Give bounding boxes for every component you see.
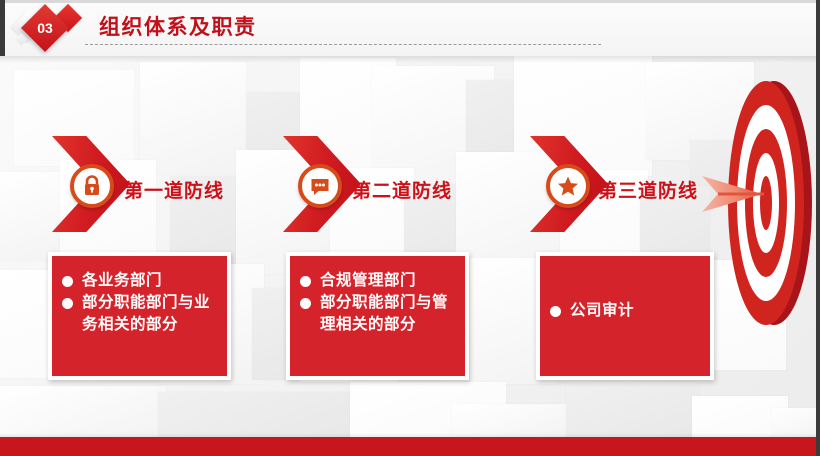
title-divider — [85, 44, 601, 45]
right-edge-accent — [816, 0, 820, 456]
slide-canvas: 第一道防线 各业务部门 部分职能部门与业务相关的部分 第二道防线 合规 — [0, 0, 820, 456]
defense-line-label-1: 第一道防线 — [124, 176, 224, 203]
star-icon — [546, 164, 590, 208]
chat-bubble-icon — [298, 164, 342, 208]
box2-item-2: 部分职能部门与管理相关的部分 — [300, 292, 455, 336]
page-title: 组织体系及职责 — [99, 11, 257, 41]
section-badge: 03 — [8, 2, 94, 54]
box1-item-1: 各业务部门 — [62, 270, 217, 292]
bullet-dot — [300, 298, 311, 309]
bottom-accent-bar — [0, 437, 820, 456]
header-shadow — [0, 56, 820, 63]
slide-header: 03 组织体系及职责 — [0, 0, 820, 56]
defense-line-label-2: 第二道防线 — [352, 176, 452, 203]
box2-item-1: 合规管理部门 — [300, 270, 455, 292]
left-edge-accent — [0, 0, 5, 56]
box3-item-1: 公司审计 — [550, 300, 700, 322]
bullet-dot — [300, 276, 311, 287]
box1-item-2: 部分职能部门与业务相关的部分 — [62, 292, 217, 336]
section-number: 03 — [28, 11, 62, 45]
bullet-dot — [550, 306, 561, 317]
background-pattern — [0, 0, 820, 456]
top-edge — [0, 0, 820, 3]
bullet-dot — [62, 276, 73, 287]
defense-line-label-3: 第三道防线 — [598, 176, 698, 203]
lock-icon — [70, 164, 114, 208]
defense-line-box-1: 各业务部门 部分职能部门与业务相关的部分 — [48, 252, 231, 380]
bullet-dot — [62, 298, 73, 309]
arrow-hitting-target — [700, 168, 780, 220]
defense-line-box-2: 合规管理部门 部分职能部门与管理相关的部分 — [286, 252, 469, 380]
defense-line-box-3: 公司审计 — [536, 252, 714, 380]
